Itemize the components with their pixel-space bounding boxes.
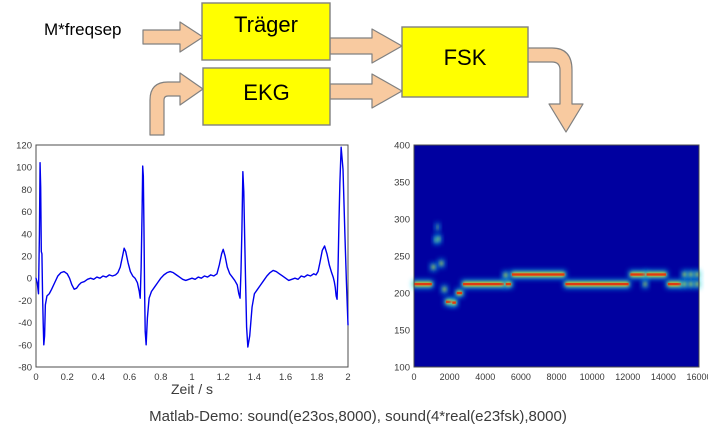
spectrogram-y-tick-label: 300 [394,215,410,226]
spectrogram-y-tick-label: 400 [394,141,410,152]
ecg-chart-svg: -80-60-40-20020406080100120 00.20.40.60.… [8,138,358,400]
spectrogram-x-tick-label: 0 [411,372,416,382]
ecg-x-tick-label: 0.4 [92,372,105,383]
ecg-x-axis-label: Zeit / s [171,381,213,397]
spectrogram-trace-core [512,273,565,275]
ecg-x-tick-label: 1.4 [248,372,261,383]
spectrogram-trace-mid [437,225,438,229]
block-label-ekg: EKG [203,80,330,106]
ecg-y-tick-label: 80 [21,185,32,196]
block-label-fsk: FSK [402,45,528,71]
spectrogram-trace-mid [683,273,687,277]
spectrogram-chart: 100150200250300350400 020004000600080001… [376,138,708,400]
spectrogram-y-tick-label: 150 [394,326,410,337]
spectrogram-trace-mid [695,282,699,286]
ecg-y-tick-label: 0 [27,274,32,285]
ecg-y-tick-label: -80 [18,363,32,374]
spectrogram-trace-mid [689,273,693,277]
demo-caption: Matlab-Demo: sound(e23os,8000), sound(4*… [0,408,716,425]
spectrogram-trace-core [630,273,645,275]
traeger-to-fsk-arrow-icon [330,29,402,63]
ecg-y-tick-label: -40 [18,318,32,329]
spectrogram-trace-mid [689,282,693,286]
spectrogram-trace-mid [695,273,699,277]
diagram-input-label: M*freqsep [44,20,121,40]
spectrogram-trace-core [463,283,504,285]
slide-canvas: M*freqsep Träger EKG FSK -80-60-40-20020… [0,0,716,441]
ecg-y-tick-label: 60 [21,207,32,218]
spectrogram-chart-svg: 100150200250300350400 020004000600080001… [376,138,708,400]
spectrogram-x-tick-label: 6000 [511,372,531,382]
spectrogram-trace-core [668,283,681,285]
block-label-traeger: Träger [202,12,330,38]
spectrogram-y-tick-label: 250 [394,252,410,263]
spectrogram-trace-mid [683,282,687,286]
spectrogram-trace-core [565,283,628,285]
spectrogram-x-tick-label: 2000 [440,372,460,382]
spectrogram-trace-mid [504,273,508,277]
ecg-x-tick-label: 0.6 [123,372,136,383]
input-arrow-to-traeger-icon [143,22,203,52]
ekg-to-fsk-arrow-icon [330,74,402,108]
spectrogram-y-tick-label: 350 [394,178,410,189]
spectrogram-trace-mid [438,237,440,241]
ecg-y-tick-label: 100 [16,163,32,174]
ecg-y-tick-label: -60 [18,340,32,351]
ecg-y-tick-label: -20 [18,296,32,307]
ecg-y-tick-label: 120 [16,141,32,152]
spectrogram-x-tick-label: 10000 [580,372,605,382]
spectrogram-trace-mid [440,261,443,265]
block-diagram: M*freqsep Träger EKG FSK [0,0,716,140]
ecg-y-tick-label: 20 [21,252,32,263]
spectrogram-trace-core [452,301,456,303]
ecg-x-tick-label: 2 [345,372,350,383]
feedback-arrow-to-ekg-icon [150,73,203,135]
ecg-y-tick-label: 40 [21,229,32,240]
ecg-plot-frame [36,145,348,367]
spectrogram-y-tick-label: 100 [394,363,410,374]
ecg-x-tick-label: 0.8 [154,372,167,383]
spectrogram-x-tick-label: 16000 [686,372,708,382]
fsk-output-arrow-icon [525,48,583,132]
ecg-x-tick-label: 0 [33,372,38,383]
spectrogram-trace-core [506,283,511,285]
spectrogram-trace-core [457,292,462,294]
spectrogram-x-tick-label: 12000 [615,372,640,382]
spectrogram-y-tick-label: 200 [394,289,410,300]
ecg-x-tick-label: 1.2 [217,372,230,383]
spectrogram-trace-mid [644,282,647,286]
spectrogram-image-area [414,145,699,367]
spectrogram-x-tick-label: 14000 [651,372,676,382]
ecg-x-tick-label: 0.2 [61,372,74,383]
spectrogram-x-tick-label: 8000 [546,372,566,382]
spectrogram-trace-core [646,273,666,275]
ecg-line-chart: -80-60-40-20020406080100120 00.20.40.60.… [8,138,358,400]
spectrogram-trace-mid [432,265,435,269]
spectrogram-trace-core [414,283,432,285]
spectrogram-trace-mid [443,287,446,291]
spectrogram-x-tick-label: 4000 [475,372,495,382]
ecg-x-tick-label: 1.8 [310,372,323,383]
ecg-x-tick-label: 1.6 [279,372,292,383]
